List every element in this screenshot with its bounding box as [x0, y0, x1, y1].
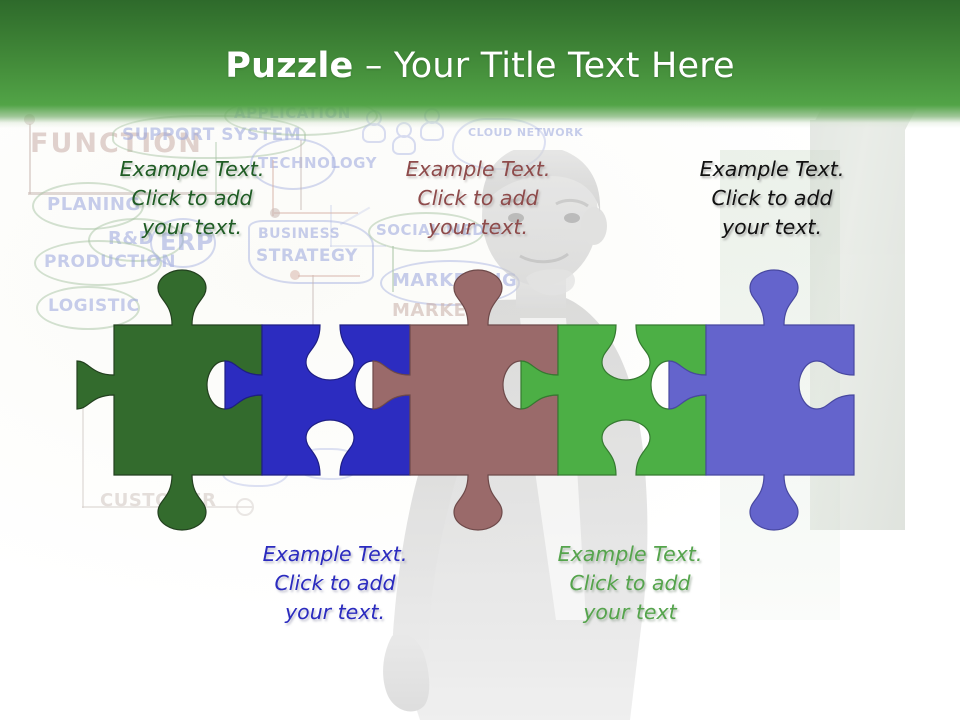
puzzle-row [110, 280, 850, 520]
page-title-rest: – Your Title Text Here [354, 46, 735, 86]
caption-bottom-center[interactable]: Example Text. Click to add your text [530, 540, 730, 627]
sketch-word-strategy: STRATEGY [256, 246, 358, 266]
page-title: Puzzle – Your Title Text Here [0, 44, 960, 88]
caption-top-left[interactable]: Example Text. Click to add your text. [92, 155, 292, 242]
sketch-connector-5 [300, 140, 302, 210]
sketch-stem [29, 124, 31, 194]
header-band: Puzzle – Your Title Text Here [0, 0, 960, 128]
sketch-connector-7 [298, 275, 360, 277]
caption-top-center[interactable]: Example Text. Click to add your text. [378, 155, 578, 242]
caption-bottom-left[interactable]: Example Text. Click to add your text. [235, 540, 435, 627]
caption-top-right[interactable]: Example Text. Click to add your text. [672, 155, 872, 242]
puzzle-piece-purple[interactable] [702, 280, 892, 520]
slide-canvas: Function Planing R&D Production Logistic… [0, 0, 960, 720]
sketch-dot-2 [290, 270, 300, 280]
page-title-bold: Puzzle [225, 46, 353, 86]
